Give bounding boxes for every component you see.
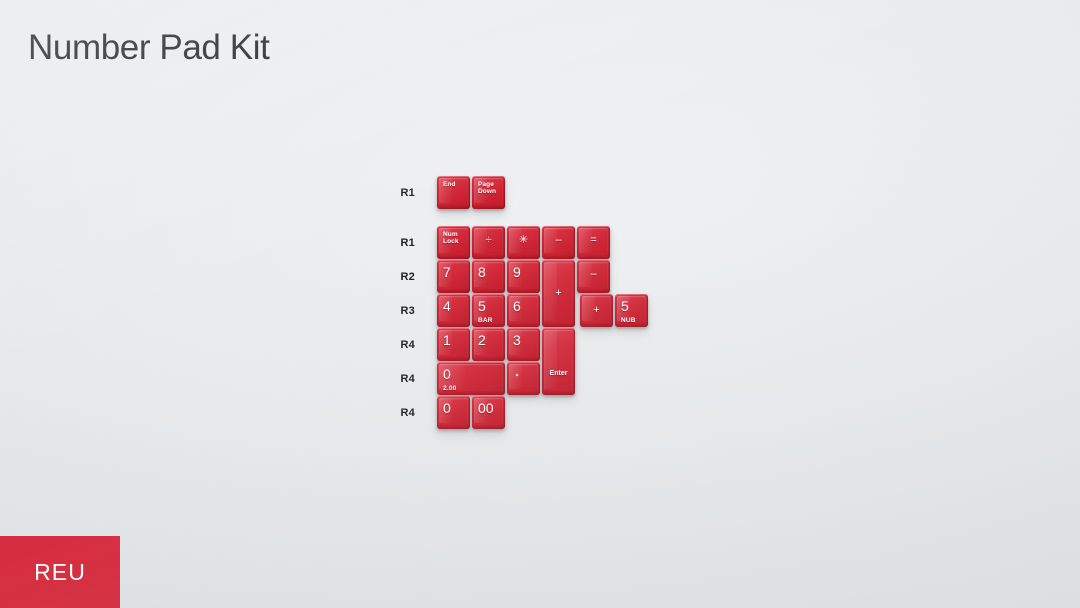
key-9-legend: 9 (513, 265, 521, 280)
key-minus-r1-legend: – (542, 235, 575, 247)
row-label-3: R3 (393, 305, 415, 317)
key-7[interactable]: 7 (437, 260, 470, 293)
key-0-1u[interactable]: 0 (437, 396, 470, 429)
key-8[interactable]: 8 (472, 260, 505, 293)
key-00-legend: 00 (478, 401, 494, 416)
key-period[interactable] (507, 362, 540, 395)
row-label-2: R2 (393, 271, 415, 283)
key-plus-tall-legend: + (542, 288, 575, 300)
key-4[interactable]: 4 (437, 294, 470, 327)
scene-background: R1R1R2R3R4R4R4EndPage DownNum Lock÷✳–=78… (0, 0, 1080, 608)
key-7-legend: 7 (443, 265, 451, 280)
row-label-4: R4 (393, 339, 415, 351)
key-1-legend: 1 (443, 333, 451, 348)
key-multiply-legend: ✳ (507, 235, 540, 247)
key-0-1u-legend: 0 (443, 401, 451, 416)
key-plus-tall[interactable]: + (542, 260, 575, 327)
brand-label: REU (34, 559, 86, 586)
key-0-2u[interactable]: 02.00 (437, 362, 505, 395)
key-6[interactable]: 6 (507, 294, 540, 327)
keycap-board: R1R1R2R3R4R4R4EndPage DownNum Lock÷✳–=78… (0, 0, 1080, 608)
key-enter[interactable]: Enter (542, 328, 575, 395)
page-title: Number Pad Kit (28, 26, 269, 70)
key-plus-1u-legend: + (580, 305, 613, 317)
key-end[interactable]: End (437, 176, 470, 209)
row-label-6: R4 (393, 407, 415, 419)
key-00[interactable]: 00 (472, 396, 505, 429)
key-divide[interactable]: ÷ (472, 226, 505, 259)
key-plus-1u[interactable]: + (580, 294, 613, 327)
key-minus-r2-legend: – (577, 269, 610, 281)
key-minus-r2[interactable]: – (577, 260, 610, 293)
key-6-legend: 6 (513, 299, 521, 314)
key-page-down[interactable]: Page Down (472, 176, 505, 209)
key-9[interactable]: 9 (507, 260, 540, 293)
key-2[interactable]: 2 (472, 328, 505, 361)
key-enter-legend: Enter (542, 370, 575, 377)
brand-badge: REU (0, 536, 120, 608)
key-multiply[interactable]: ✳ (507, 226, 540, 259)
key-5-bar[interactable]: 5BAR (472, 294, 505, 327)
key-period-period-glyph (516, 374, 518, 376)
key-num-lock[interactable]: Num Lock (437, 226, 470, 259)
row-label-1: R1 (393, 237, 415, 249)
key-equals[interactable]: = (577, 226, 610, 259)
key-4-legend: 4 (443, 299, 451, 314)
key-end-legend: End (443, 182, 456, 189)
key-5-nub-legend: 5 (621, 299, 629, 314)
key-page-down-legend: Page Down (478, 182, 496, 196)
key-3-legend: 3 (513, 333, 521, 348)
key-num-lock-legend: Num Lock (443, 232, 459, 246)
key-5-nub[interactable]: 5NUB (615, 294, 648, 327)
row-label-5: R4 (393, 373, 415, 385)
key-8-legend: 8 (478, 265, 486, 280)
key-3[interactable]: 3 (507, 328, 540, 361)
key-minus-r1[interactable]: – (542, 226, 575, 259)
key-5-nub-sublabel: NUB (621, 317, 636, 324)
key-1[interactable]: 1 (437, 328, 470, 361)
key-equals-legend: = (577, 235, 610, 247)
key-5-bar-sublabel: BAR (478, 317, 493, 324)
row-label-0: R1 (393, 187, 415, 199)
key-divide-legend: ÷ (472, 235, 505, 247)
key-2-legend: 2 (478, 333, 486, 348)
key-0-2u-legend: 0 (443, 367, 451, 382)
key-0-2u-sublabel: 2.00 (443, 385, 456, 392)
key-5-bar-legend: 5 (478, 299, 486, 314)
